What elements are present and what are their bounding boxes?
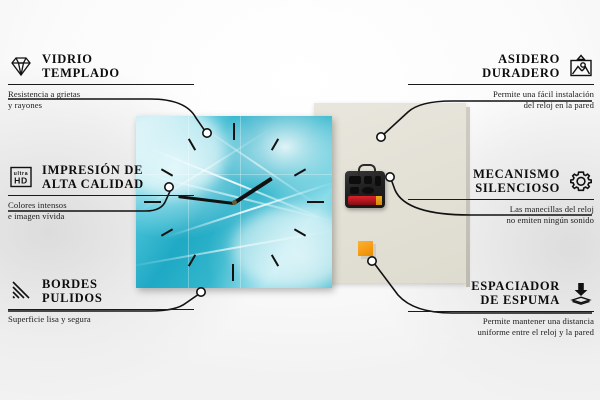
feature-description: Superficie lisa y segura: [8, 314, 194, 325]
clock-hub: [232, 200, 237, 205]
feature-description: Resistencia a grietas y rayones: [8, 89, 194, 111]
ultra-hd-icon: ultra HD: [8, 165, 34, 189]
divider: [408, 199, 594, 200]
feature-title: MECANISMO SILENCIOSO: [473, 167, 560, 195]
foam-spacer-part: [358, 241, 373, 256]
polished-edges-icon: [8, 279, 34, 303]
infographic-canvas: VIDRIO TEMPLADO Resistencia a grietas y …: [0, 0, 600, 400]
feature-bordes-pulidos[interactable]: BORDES PULIDOS Superficie lisa y segura: [8, 277, 194, 325]
foam-spacer-icon: [568, 281, 594, 305]
feature-espaciador-de-espuma[interactable]: ESPACIADOR DE ESPUMA Permite mantener un…: [408, 279, 594, 338]
svg-text:HD: HD: [14, 176, 28, 186]
feature-description: Permite una fácil instalación del reloj …: [408, 89, 594, 111]
feature-title-row: ASIDERO DURADERO: [408, 52, 594, 80]
feature-mecanismo-silencioso[interactable]: MECANISMO SILENCIOSO Las manecillas del …: [408, 167, 594, 226]
feature-asidero-duradero[interactable]: ASIDERO DURADERO Permite una fácil insta…: [408, 52, 594, 111]
feature-title-row: VIDRIO TEMPLADO: [8, 52, 194, 80]
feature-title-row: MECANISMO SILENCIOSO: [408, 167, 594, 195]
feature-title-row: ESPACIADOR DE ESPUMA: [408, 279, 594, 307]
picture-hanger-icon: [568, 54, 594, 78]
feature-description: Colores intensos e imagen vívida: [8, 200, 194, 222]
feature-title: ESPACIADOR DE ESPUMA: [471, 279, 560, 307]
clock-tick: [294, 168, 306, 176]
feature-title-row: BORDES PULIDOS: [8, 277, 194, 305]
feature-title-row: ultra HD IMPRESIÓN DE ALTA CALIDAD: [8, 163, 194, 191]
divider: [8, 84, 194, 85]
feature-vidrio-templado[interactable]: VIDRIO TEMPLADO Resistencia a grietas y …: [8, 52, 194, 111]
divider: [8, 309, 194, 310]
clock-tick: [233, 123, 235, 140]
clock-tick: [307, 201, 324, 203]
gear-icon: [568, 169, 594, 193]
feature-title: BORDES PULIDOS: [42, 277, 102, 305]
divider: [8, 195, 194, 196]
feature-title: VIDRIO TEMPLADO: [42, 52, 120, 80]
feature-title: IMPRESIÓN DE ALTA CALIDAD: [42, 163, 144, 191]
divider: [408, 311, 594, 312]
movement-battery: [348, 196, 382, 205]
clock-tick: [271, 138, 279, 150]
feature-description: Permite mantener una distancia uniforme …: [408, 316, 594, 338]
clock-movement: [345, 171, 385, 208]
divider: [408, 84, 594, 85]
feature-title: ASIDERO DURADERO: [482, 52, 560, 80]
feature-description: Las manecillas del reloj no emiten ningú…: [408, 204, 594, 226]
movement-hanger: [358, 164, 376, 175]
clock-tick: [232, 264, 234, 281]
feature-impresion-alta-calidad[interactable]: ultra HD IMPRESIÓN DE ALTA CALIDAD Color…: [8, 163, 194, 222]
diamond-icon: [8, 54, 34, 78]
